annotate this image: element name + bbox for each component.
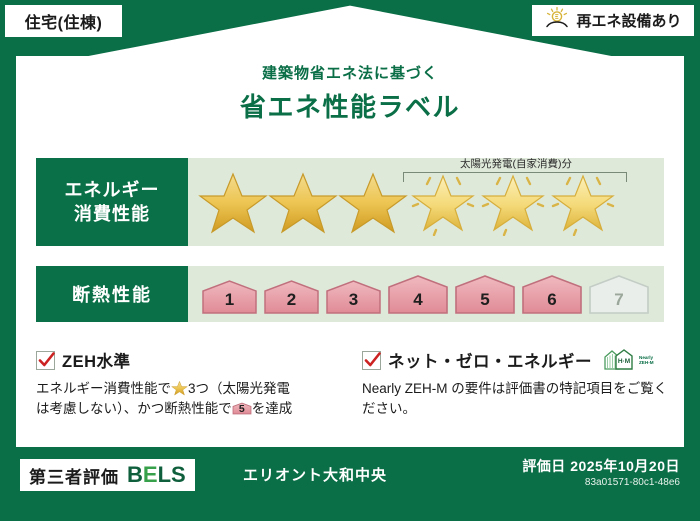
zeh-m-caption: Nearly ZEH-M — [639, 355, 654, 366]
bels-b: B — [127, 462, 143, 487]
checkbox-zeh-standard[interactable] — [36, 351, 55, 370]
insulation-level-1-num: 1 — [200, 290, 259, 310]
bels-e: E — [143, 462, 158, 487]
insulation-level-7: 7 — [587, 274, 651, 315]
claim-zeh-header: ZEH水準 — [36, 348, 344, 372]
claim-zeh-body-pre: エネルギー消費性能で — [36, 381, 171, 396]
zeh-m-caption-line2: ZEH-M — [639, 360, 654, 365]
insulation-level-6: 6 — [520, 274, 584, 315]
house-type-chip: 住宅(住棟) — [4, 4, 123, 38]
claim-zeh-body-stars: 3つ（太陽光発電 — [188, 381, 290, 396]
claim-zeh-title: ZEH水準 — [62, 348, 131, 372]
insulation-level-scale: 1 2 3 4 5 — [188, 274, 651, 315]
star-solar-4 — [408, 168, 478, 236]
inline-star-icon — [171, 380, 188, 396]
third-party-eval-label: 第三者評価 — [29, 463, 119, 488]
claims-section: ZEH水準 エネルギー消費性能で3つ（太陽光発電 は考慮しない）、かつ断熱性能で… — [36, 348, 670, 420]
insulation-performance-row: 断熱性能 1 2 3 4 — [36, 266, 664, 322]
star-filled-3 — [338, 168, 408, 236]
insulation-level-7-num: 7 — [587, 290, 651, 310]
bels-certification-chip: 第三者評価 BELS — [20, 459, 195, 491]
energy-performance-row: エネルギー 消費性能 太陽光発電(自家消費)分 — [36, 158, 664, 246]
page-title: 省エネ性能ラベル — [0, 87, 700, 124]
claim-zeh-body-mid: は考慮しない）、かつ断熱性能で — [36, 401, 232, 416]
star-solar-5 — [478, 168, 548, 236]
inline-house-icon: 5 — [232, 400, 252, 417]
energy-label-root: 住宅(住棟) 再エネ設備あり 建築物省エネ法に基づく 省エネ性能ラベル — [0, 0, 700, 521]
star-filled-1 — [198, 168, 268, 236]
insulation-level-4: 4 — [386, 274, 450, 315]
star-filled-2 — [268, 168, 338, 236]
evaluation-id: 83a01571-80c1-48e6 — [585, 477, 680, 488]
check-icon — [364, 352, 381, 369]
inline-house-num: 5 — [232, 402, 252, 418]
insulation-level-5: 5 — [453, 274, 517, 315]
building-name: エリオント大和中央 — [243, 464, 387, 485]
insulation-level-2: 2 — [262, 279, 321, 315]
claim-zeh-body-post: を達成 — [252, 401, 293, 416]
insulation-row-label-text: 断熱性能 — [72, 281, 152, 307]
checkbox-net-zero-energy[interactable] — [362, 351, 381, 370]
claim-net-zero-energy: ネット・ゼロ・エネルギー H·M Nearly ZEH-M — [362, 348, 670, 420]
sun-icon — [544, 6, 570, 35]
insulation-level-1: 1 — [200, 279, 259, 315]
bels-ls: LS — [158, 462, 186, 487]
insulation-level-4-num: 4 — [386, 290, 450, 310]
bels-logo: BELS — [127, 462, 186, 488]
insulation-level-5-num: 5 — [453, 290, 517, 310]
renewable-badge-label: 再エネ設備あり — [576, 10, 681, 31]
energy-row-label-line2: 消費性能 — [74, 202, 150, 226]
insulation-level-3-num: 3 — [324, 290, 383, 310]
energy-row-value: 太陽光発電(自家消費)分 — [188, 158, 664, 246]
star-rating — [188, 168, 618, 236]
energy-row-label-line1: エネルギー — [65, 178, 160, 202]
renewable-equipment-badge: 再エネ設備あり — [531, 4, 695, 37]
evaluation-date-value: 2025年10月20日 — [570, 458, 680, 474]
label-subtitle: 建築物省エネ法に基づく — [0, 62, 700, 83]
insulation-level-2-num: 2 — [262, 290, 321, 310]
claim-zeh-standard: ZEH水準 エネルギー消費性能で3つ（太陽光発電 は考慮しない）、かつ断熱性能で… — [36, 348, 344, 420]
zeh-m-house-icon: H·M Nearly ZEH-M — [603, 348, 654, 372]
claim-nze-body: Nearly ZEH-M の要件は評価書の特記項目をご覧ください。 — [362, 379, 670, 420]
energy-row-label: エネルギー 消費性能 — [36, 158, 188, 246]
check-icon — [38, 352, 55, 369]
title-block: 建築物省エネ法に基づく 省エネ性能ラベル — [0, 62, 700, 124]
zeh-m-caption-line1: Nearly — [639, 355, 653, 360]
insulation-level-3: 3 — [324, 279, 383, 315]
claim-nze-header: ネット・ゼロ・エネルギー H·M Nearly ZEH-M — [362, 348, 670, 372]
evaluation-date-label: 評価日 — [522, 458, 566, 474]
claim-zeh-body: エネルギー消費性能で3つ（太陽光発電 は考慮しない）、かつ断熱性能で5を達成 — [36, 379, 344, 420]
evaluation-date: 評価日 2025年10月20日 — [522, 456, 680, 476]
claim-nze-title: ネット・ゼロ・エネルギー — [388, 348, 592, 372]
svg-text:H·M: H·M — [618, 358, 630, 365]
insulation-level-6-num: 6 — [520, 290, 584, 310]
star-solar-6 — [548, 168, 618, 236]
footer-bar: 第三者評価 BELS エリオント大和中央 評価日 2025年10月20日 83a… — [0, 447, 700, 521]
house-type-label: 住宅(住棟) — [25, 9, 103, 33]
insulation-row-label: 断熱性能 — [36, 266, 188, 322]
insulation-row-value: 1 2 3 4 5 — [188, 266, 664, 322]
